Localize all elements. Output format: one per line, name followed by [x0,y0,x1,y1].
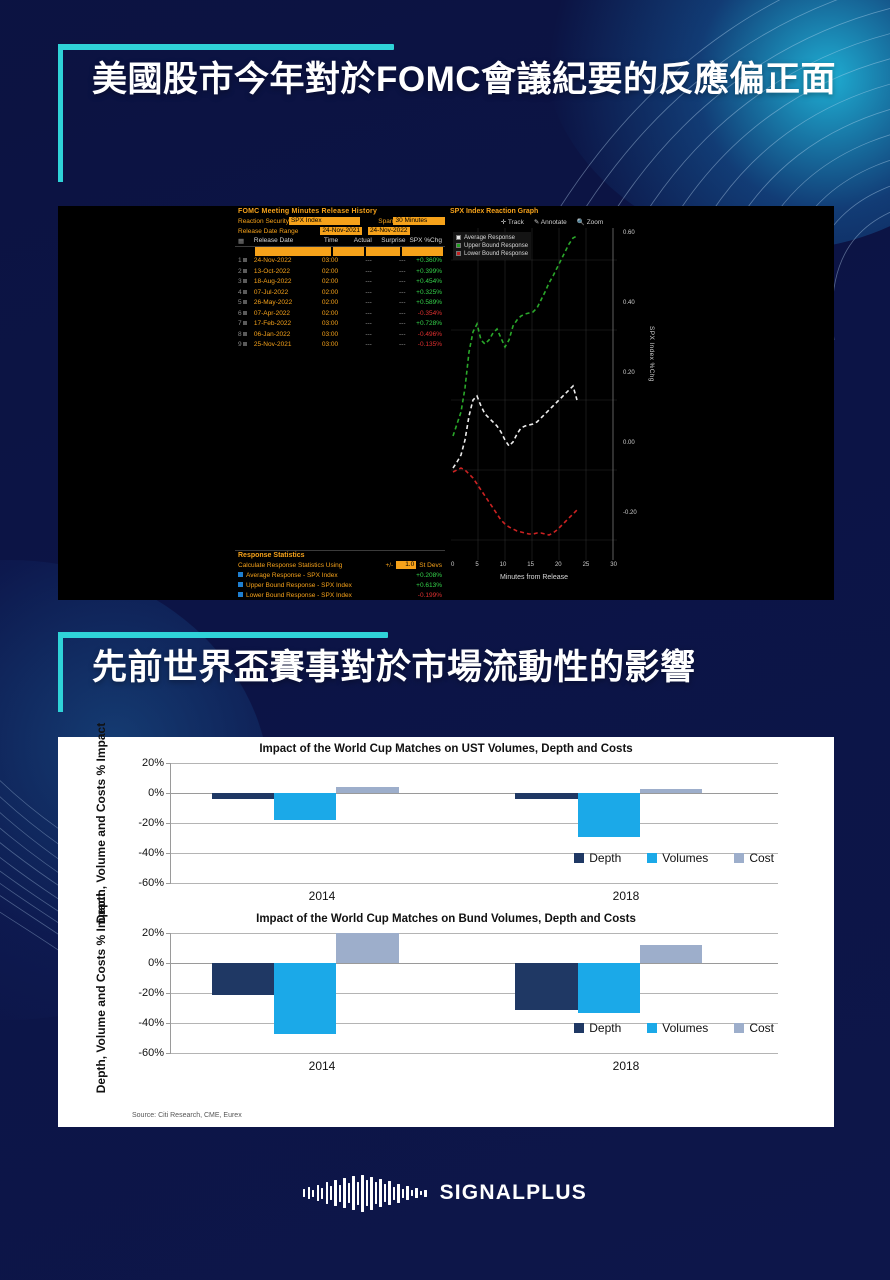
st-dev-input[interactable]: 1.0 [396,561,416,569]
date-to-input[interactable]: 24-Nov-2022 [368,227,410,235]
row-time: 02:00 [308,267,338,278]
gridline [171,933,778,934]
legend-swatch-average-icon [456,235,461,240]
y-tick-020: 0.20 [623,370,635,376]
bund-y-axis-label: Depth, Volume and Costs % Impact [74,929,128,1057]
row-actual: --- [338,277,372,288]
y-tick: -60% [138,1047,164,1059]
date-from-input[interactable]: 24-Nov-2021 [320,227,362,235]
row-time: 02:00 [308,298,338,309]
bar-cost-2014 [336,933,398,963]
legend-swatch-icon [574,1023,584,1033]
col-index: ▦ [235,237,254,245]
row-surprise: --- [372,319,406,330]
row-spx-chg: +0.360% [406,256,446,267]
statistic-value: +0.613% [401,582,445,589]
row-index: 5 [235,298,254,309]
graph-legend: Average Response Upper Bound Response Lo… [453,232,531,260]
filter-band[interactable] [235,247,445,256]
row-spx-chg: +0.399% [406,267,446,278]
row-index: 7 [235,319,254,330]
graph-y-axis-label: SPX Index %Chg [648,326,655,382]
row-surprise: --- [372,298,406,309]
calc-stats-label: Calculate Response Statistics Using [238,562,385,569]
waveform-bar [339,1185,341,1202]
row-spx-chg: -0.354% [406,309,446,320]
row-spx-chg: -0.496% [406,330,446,341]
table-row[interactable]: 6 07-Apr-202202:00-------0.354% [235,309,445,320]
bar-depth-2018 [515,963,577,1010]
bund-y-ticks: 20%0%-20%-40%-60% [128,933,168,1053]
row-surprise: --- [372,267,406,278]
row-surprise: --- [372,288,406,299]
legend-label-upper: Upper Bound Response [464,243,528,249]
row-release-date: 06-Jan-2022 [254,330,308,341]
response-statistic-row[interactable]: Upper Bound Response - SPX Index+0.613% [235,580,445,590]
legend-label-average: Average Response [464,235,515,241]
waveform-bar [406,1186,408,1200]
track-tool[interactable]: ✛ Track [501,218,524,226]
waveform-bar [308,1187,310,1199]
axis-tickmark [166,1023,171,1024]
bar-cost-2014 [336,787,398,793]
category-label: 2018 [474,1059,778,1073]
ust-legend: DepthVolumesCost [574,851,774,865]
bar-volumes-2018 [578,963,640,1013]
y-tick-000: 0.00 [623,440,635,446]
annotate-tool[interactable]: ✎ Annotate [534,218,567,226]
bund-category-labels: 20142018 [170,1059,778,1073]
waveform-icon [303,1173,426,1213]
response-statistic-row[interactable]: Lower Bound Response - SPX Index-0.199% [235,590,445,600]
ust-chart-title: Impact of the World Cup Matches on UST V… [58,737,834,755]
waveform-bar [321,1188,323,1199]
table-row[interactable]: 5 26-May-202202:00------+0.589% [235,298,445,309]
row-surprise: --- [372,277,406,288]
waveform-bar [411,1190,413,1196]
x-tick-0: 0 [451,562,454,568]
response-statistics-title: Response Statistics [235,550,445,560]
table-header-row: ▦ Release Date Time Actual Surprise SPX … [235,236,445,247]
row-actual: --- [338,330,372,341]
bar-volumes-2014 [274,793,336,820]
gridline [171,763,778,764]
footer-branding: SIGNALPLUS [0,1165,890,1221]
row-time: 03:00 [308,330,338,341]
row-index: 4 [235,288,254,299]
row-release-date: 07-Apr-2022 [254,309,308,320]
ust-y-ticks: 20%0%-20%-40%-60% [128,763,168,883]
row-spx-chg: +0.325% [406,288,446,299]
bund-plot-area [170,933,778,1053]
x-tick-10: 10 [500,562,507,568]
category-label: 2018 [474,889,778,903]
waveform-bar [361,1175,363,1212]
legend-item-depth: Depth [574,1021,621,1035]
y-tick: 0% [148,787,164,799]
category-label: 2014 [170,889,474,903]
row-actual: --- [338,256,372,267]
reaction-security-label: Reaction Security [238,218,289,225]
brand-name: SIGNALPLUS [440,1181,587,1205]
waveform-bar [334,1180,336,1206]
span-label: Span [378,218,393,225]
x-tick-25: 25 [583,562,590,568]
legend-swatch-icon [574,853,584,863]
y-tick: 0% [148,957,164,969]
table-row[interactable]: 1 24-Nov-202203:00------+0.360% [235,256,445,267]
reaction-security-row: Reaction Security SPX Index Span 30 Minu… [235,216,445,226]
accent-bar-left [58,44,63,182]
bloomberg-table-body: 1 24-Nov-202203:00------+0.360%2 13-Oct-… [235,256,445,351]
heading-2-text: 先前世界盃賽事對於市場流動性的影響 [80,632,858,692]
waveform-bar [326,1182,328,1204]
bar-cost-2018 [640,945,702,963]
ust-impact-chart: Impact of the World Cup Matches on UST V… [58,737,834,883]
row-actual: --- [338,340,372,351]
st-dev-label: St Devs [419,562,445,569]
response-statistics: Response Statistics Calculate Response S… [235,550,445,600]
statistic-label: Average Response - SPX Index [238,572,401,579]
axis-tickmark [166,1053,171,1054]
bund-chart-body: Depth, Volume and Costs % Impact 20%0%-2… [58,933,834,1053]
row-release-date: 26-May-2022 [254,298,308,309]
row-index: 2 [235,267,254,278]
bar-depth-2014 [212,793,274,799]
legend-item-volumes: Volumes [647,1021,708,1035]
reaction-graph-title: SPX Index Reaction Graph [447,206,657,217]
waveform-bar [375,1182,377,1204]
world-cup-charts-card: Impact of the World Cup Matches on UST V… [58,737,834,1127]
legend-label-lower: Lower Bound Response [464,251,528,257]
axis-tickmark [166,763,171,764]
graph-x-axis-ticks: 0 5 10 15 20 25 30 [451,562,617,568]
col-spx-chg[interactable]: SPX %Chg [406,237,446,245]
section-heading-1: 美國股市今年對於FOMC會議紀要的反應偏正面 [58,44,848,104]
legend-item-depth: Depth [574,851,621,865]
x-tick-20: 20 [555,562,562,568]
reaction-security-input[interactable]: SPX Index [289,217,360,225]
axis-tickmark [166,853,171,854]
waveform-bar [303,1189,305,1197]
heading-block: 美國股市今年對於FOMC會議紀要的反應偏正面 [58,44,848,104]
waveform-bar [370,1177,372,1210]
col-time[interactable]: Time [308,237,338,245]
section-heading-2: 先前世界盃賽事對於市場流動性的影響 [58,632,858,692]
heading-block-2: 先前世界盃賽事對於市場流動性的影響 [58,632,858,692]
axis-tickmark [166,883,171,884]
legend-item-volumes: Volumes [647,851,708,865]
zoom-tool[interactable]: 🔍 Zoom [577,218,604,226]
y-tick-060: 0.60 [623,230,635,236]
table-row[interactable]: 9 25-Nov-202103:00-------0.135% [235,340,445,351]
bloomberg-terminal-screenshot: FOMC Meeting Minutes Release History Rea… [58,206,834,600]
bloomberg-left-title: FOMC Meeting Minutes Release History [235,206,445,216]
legend-item-cost: Cost [734,1021,774,1035]
row-index: 9 [235,340,254,351]
accent-bar-left-2 [58,632,63,712]
waveform-bar [420,1191,422,1195]
row-index: 8 [235,330,254,341]
bar-volumes-2014 [274,963,336,1034]
waveform-bar [415,1188,417,1198]
waveform-bar [312,1190,314,1197]
reaction-graph-plot [451,228,617,560]
legend-average: Average Response [456,234,528,242]
row-surprise: --- [372,309,406,320]
x-tick-30: 30 [610,562,617,568]
legend-upper: Upper Bound Response [456,242,528,250]
row-time: 02:00 [308,277,338,288]
axis-tickmark [166,993,171,994]
table-row[interactable]: 7 17-Feb-202203:00------+0.728% [235,319,445,330]
row-index: 6 [235,309,254,320]
row-release-date: 07-Jul-2022 [254,288,308,299]
y-tick: -60% [138,877,164,889]
row-time: 03:00 [308,340,338,351]
row-spx-chg: +0.589% [406,298,446,309]
row-spx-chg: +0.728% [406,319,446,330]
row-actual: --- [338,267,372,278]
row-release-date: 24-Nov-2022 [254,256,308,267]
legend-swatch-icon [734,853,744,863]
accent-bar-top [58,44,394,50]
bar-depth-2014 [212,963,274,995]
col-surprise[interactable]: Surprise [372,237,406,245]
waveform-bar [379,1179,381,1207]
table-row[interactable]: 8 06-Jan-202203:00-------0.496% [235,330,445,341]
row-surprise: --- [372,256,406,267]
table-row[interactable]: 3 18-Aug-202202:00------+0.454% [235,277,445,288]
y-tick: -40% [138,847,164,859]
table-row[interactable]: 4 07-Jul-202202:00------+0.325% [235,288,445,299]
legend-swatch-upper-icon [456,243,461,248]
x-tick-15: 15 [527,562,534,568]
waveform-bar [388,1181,390,1205]
waveform-bar [352,1176,354,1210]
waveform-bar [317,1185,319,1201]
y-tick: -20% [138,817,164,829]
heading-1-text: 美國股市今年對於FOMC會議紀要的反應偏正面 [80,44,848,104]
row-actual: --- [338,309,372,320]
waveform-bar [357,1182,359,1205]
col-actual[interactable]: Actual [338,237,372,245]
ust-plot-area [170,763,778,883]
waveform-bar [343,1178,345,1208]
y-tick-040: 0.40 [623,300,635,306]
bloomberg-right-panel: SPX Index Reaction Graph ✛ Track ✎ Annot… [447,206,657,600]
calc-stats-row: Calculate Response Statistics Using +/- … [235,560,445,570]
category-label: 2014 [170,1059,474,1073]
span-input[interactable]: 30 Minutes [393,217,445,225]
accent-bar-top-2 [58,632,388,638]
x-tick-5: 5 [475,562,478,568]
row-actual: --- [338,288,372,299]
waveform-bar [330,1186,332,1200]
row-release-date: 13-Oct-2022 [254,267,308,278]
bund-impact-chart: Impact of the World Cup Matches on Bund … [58,907,834,1053]
row-time: 03:00 [308,256,338,267]
bloomberg-inner: FOMC Meeting Minutes Release History Rea… [235,206,657,600]
ust-y-axis-label: Depth, Volume and Costs % Impact [74,759,128,887]
legend-swatch-icon [647,1023,657,1033]
gridline [171,1053,778,1054]
y-tick: 20% [142,757,164,769]
graph-x-axis-label: Minutes from Release [451,574,617,581]
ust-category-labels: 20142018 [170,889,778,903]
ust-chart-body: Depth, Volume and Costs % Impact 20%0%-2… [58,763,834,883]
axis-tickmark [166,793,171,794]
col-release-date[interactable]: Release Date [254,237,308,245]
row-release-date: 25-Nov-2021 [254,340,308,351]
response-statistic-row[interactable]: Average Response - SPX Index+0.208% [235,570,445,580]
row-release-date: 18-Aug-2022 [254,277,308,288]
row-release-date: 17-Feb-2022 [254,319,308,330]
y-tick-neg020: -0.20 [623,510,637,516]
statistic-label: Lower Bound Response - SPX Index [238,592,401,599]
gridline [171,823,778,824]
row-surprise: --- [372,330,406,341]
legend-swatch-icon [734,1023,744,1033]
release-date-range-row: Release Date Range 24-Nov-2021 24-Nov-20… [235,226,445,236]
legend-item-cost: Cost [734,851,774,865]
bar-cost-2018 [640,789,702,793]
release-date-range-label: Release Date Range [238,228,298,235]
bund-legend: DepthVolumesCost [574,1021,774,1035]
row-actual: --- [338,298,372,309]
axis-tickmark [166,823,171,824]
source-note: Source: Citi Research, CME, Eurex [132,1112,242,1119]
row-time: 02:00 [308,288,338,299]
statistic-value: -0.199% [401,592,445,599]
axis-tickmark [166,933,171,934]
statistic-value: +0.208% [401,572,445,579]
row-spx-chg: +0.454% [406,277,446,288]
waveform-bar [402,1189,404,1198]
axis-tickmark [166,963,171,964]
legend-swatch-lower-icon [456,251,461,256]
row-actual: --- [338,319,372,330]
bar-volumes-2018 [578,793,640,837]
waveform-bar [397,1184,399,1203]
row-index: 3 [235,277,254,288]
statistic-label: Upper Bound Response - SPX Index [238,582,401,589]
row-spx-chg: -0.135% [406,340,446,351]
waveform-bar [393,1187,395,1200]
row-time: 02:00 [308,309,338,320]
y-tick: -20% [138,987,164,999]
row-time: 03:00 [308,319,338,330]
gridline [171,883,778,884]
y-tick: -40% [138,1017,164,1029]
response-statistics-items: Average Response - SPX Index+0.208%Upper… [235,570,445,600]
plus-minus-label: +/- [385,562,393,569]
legend-lower: Lower Bound Response [456,250,528,258]
row-surprise: --- [372,340,406,351]
row-index: 1 [235,256,254,267]
bund-chart-title: Impact of the World Cup Matches on Bund … [58,907,834,925]
waveform-bar [348,1183,350,1203]
bar-depth-2018 [515,793,577,799]
bloomberg-left-panel: FOMC Meeting Minutes Release History Rea… [235,206,445,600]
table-row[interactable]: 2 13-Oct-202202:00------+0.399% [235,267,445,278]
waveform-bar [384,1184,386,1202]
y-tick: 20% [142,927,164,939]
waveform-bar [424,1190,426,1197]
legend-swatch-icon [647,853,657,863]
waveform-bar [366,1180,368,1206]
